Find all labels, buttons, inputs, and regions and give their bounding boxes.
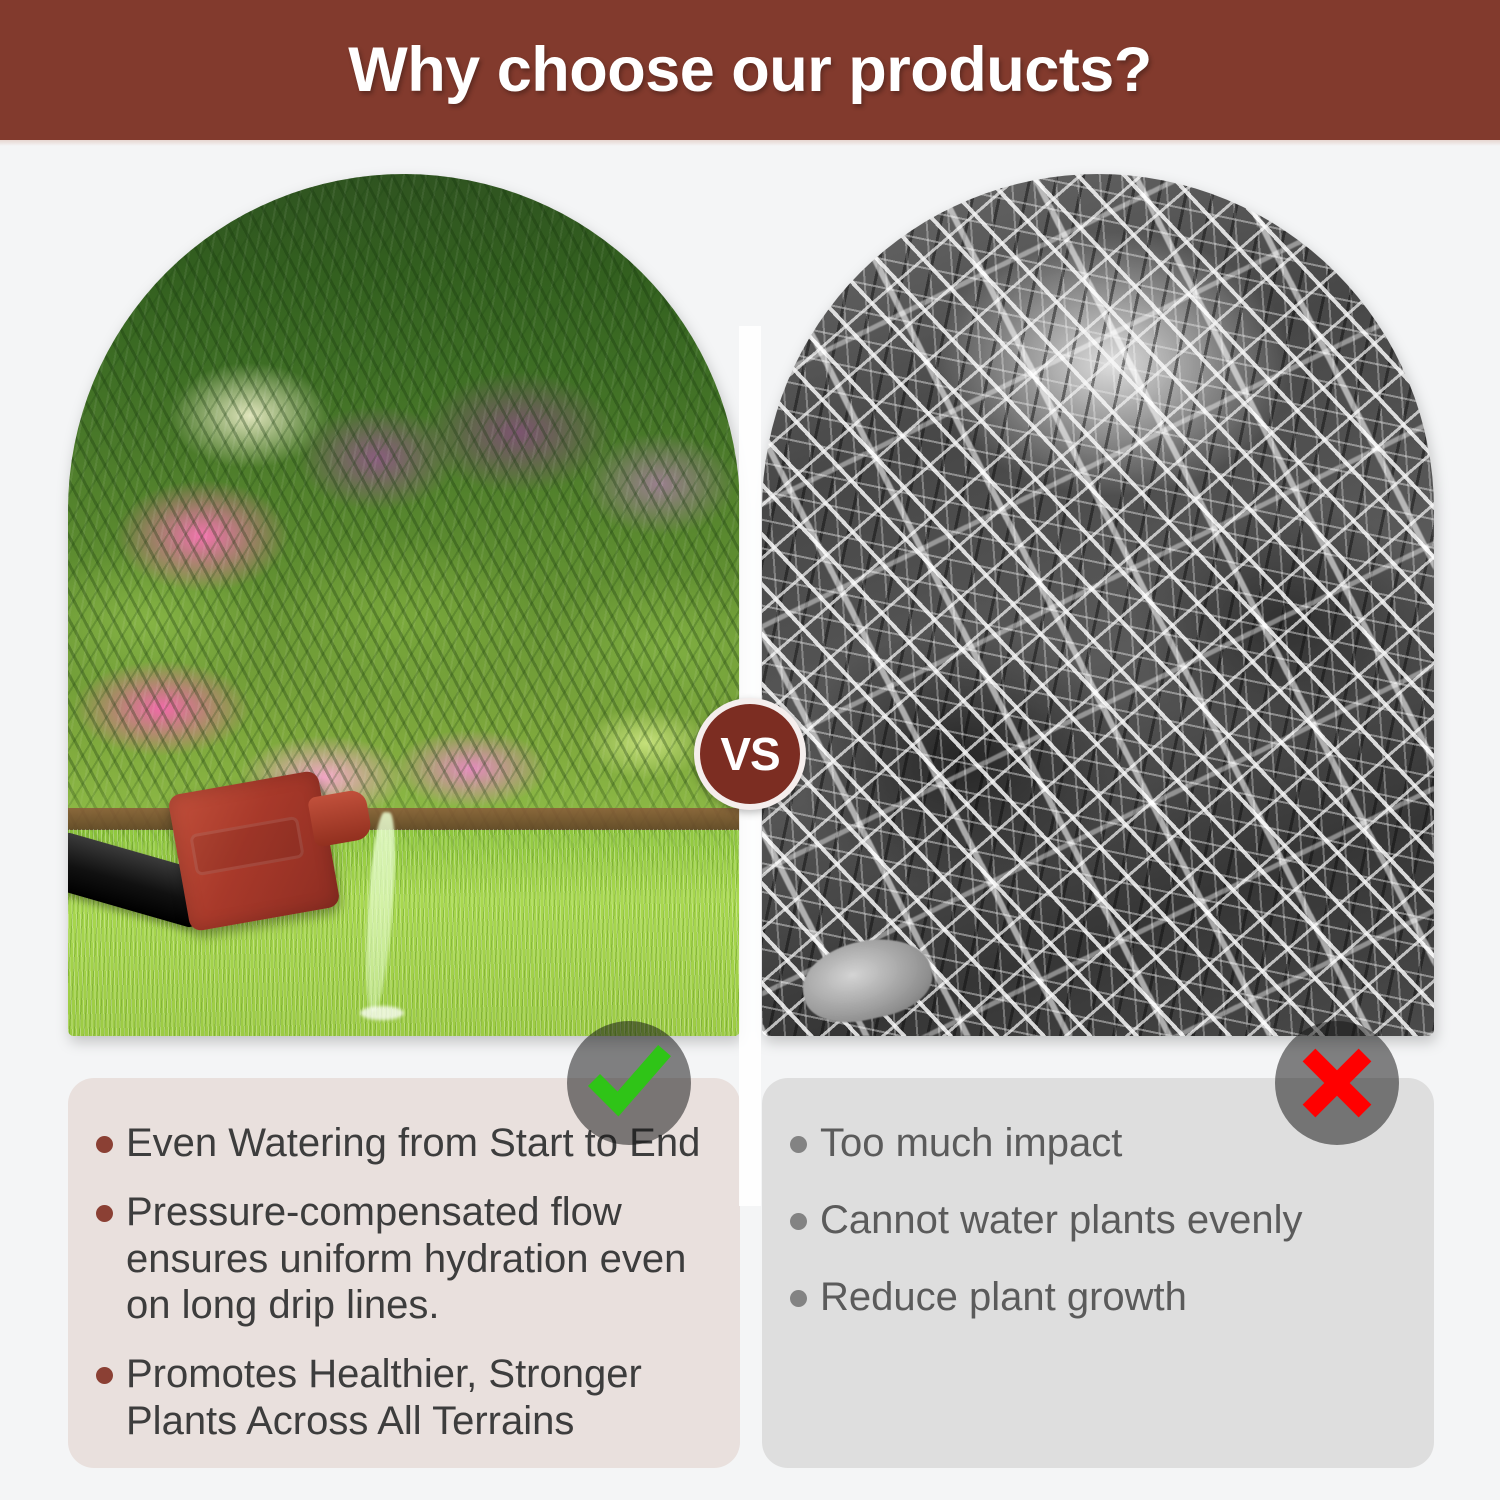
list-item: Promotes Healthier, Stronger Plants Acro… [96, 1351, 706, 1445]
water-droplet-icon [360, 1006, 404, 1020]
vs-badge: VS [694, 698, 806, 810]
check-icon [586, 1040, 672, 1126]
bullet-dot-icon [790, 1290, 807, 1307]
drawback-text: Cannot water plants evenly [820, 1197, 1303, 1244]
list-item: Pressure-compensated flow ensures unifor… [96, 1189, 706, 1329]
list-item: Reduce plant growth [790, 1274, 1400, 1321]
left-product-image-panel [68, 174, 740, 1036]
benefit-text: Pressure-compensated flow ensures unifor… [126, 1189, 706, 1329]
status-badge-positive [567, 1021, 691, 1145]
left-photo [68, 174, 740, 1036]
drawback-text: Reduce plant growth [820, 1274, 1187, 1321]
list-item: Cannot water plants evenly [790, 1197, 1400, 1244]
page-title: Why choose our products? [348, 34, 1152, 106]
lawn-grass-texture [68, 829, 740, 1036]
header-banner: Why choose our products? [0, 0, 1500, 140]
straw-highlight-texture [762, 174, 1434, 1036]
bullet-dot-icon [790, 1136, 807, 1153]
bullet-dot-icon [96, 1367, 113, 1384]
drawback-text: Too much impact [820, 1120, 1122, 1167]
bullet-dot-icon [96, 1136, 113, 1153]
status-badge-negative [1275, 1021, 1399, 1145]
benefit-text: Promotes Healthier, Stronger Plants Acro… [126, 1351, 706, 1445]
bullet-dot-icon [790, 1213, 807, 1230]
right-photo [762, 174, 1434, 1036]
comparison-panels: VS [0, 146, 1500, 1046]
cross-icon [1297, 1043, 1377, 1123]
bullet-dot-icon [96, 1205, 113, 1222]
right-comparison-image-panel [762, 174, 1434, 1036]
vs-label: VS [720, 727, 779, 781]
